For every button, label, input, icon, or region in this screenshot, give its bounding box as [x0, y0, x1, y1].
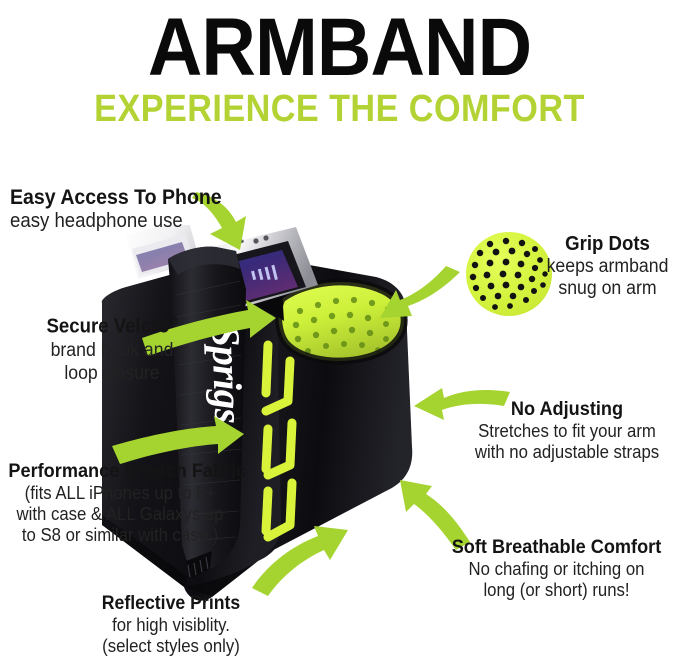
infographic-canvas: ARMBAND EXPERIENCE THE COMFORT: [0, 0, 679, 664]
callout-line: for high visiblity.: [79, 615, 263, 636]
callout-performance-stretch-fabric: Performance Stretch Fabric (fits ALL iPh…: [0, 460, 240, 546]
page-subtitle: EXPERIENCE THE COMFORT: [34, 88, 645, 130]
callout-soft-breathable-comfort-body: No chafing or itching on long (or short)…: [434, 559, 679, 601]
callout-line: long (or short) runs!: [443, 580, 671, 601]
callout-no-adjusting: No Adjusting Stretches to fit your arm w…: [455, 398, 679, 463]
title-block: ARMBAND EXPERIENCE THE COMFORT: [0, 4, 679, 130]
callout-line: No chafing or itching on: [443, 559, 671, 580]
callout-no-adjusting-body: Stretches to fit your arm with no adjust…: [455, 421, 679, 463]
callout-line: with no adjustable straps: [463, 442, 671, 463]
callout-reflective-prints-heading: Reflective Prints: [79, 592, 263, 615]
callout-line: Stretches to fit your arm: [463, 421, 671, 442]
callout-reflective-prints: Reflective Prints for high visiblity. (s…: [72, 592, 270, 657]
callout-secure-velcro-body: brand hook and loop closure: [6, 339, 218, 385]
callout-soft-breathable-comfort: Soft Breathable Comfort No chafing or it…: [434, 536, 679, 601]
callout-grip-dots-heading: Grip Dots: [545, 232, 671, 256]
product-photo: Sprigs: [60, 225, 480, 625]
callout-easy-access-body: easy headphone use: [10, 210, 270, 233]
callout-line: (fits ALL iPhones up to 8+: [8, 483, 231, 504]
callout-line: with case & ALL Galaxys up: [8, 504, 231, 525]
callout-line: loop closure: [13, 362, 210, 385]
callout-heading-text: Secure Velcro: [46, 316, 169, 338]
callout-performance-stretch-fabric-body: (fits ALL iPhones up to 8+ with case & A…: [0, 483, 240, 546]
callout-line: (select styles only): [79, 636, 263, 657]
callout-performance-stretch-fabric-heading: Performance Stretch Fabric: [8, 460, 231, 483]
callout-reflective-prints-body: for high visiblity. (select styles only): [72, 615, 270, 657]
registered-trademark-icon: ®: [170, 315, 178, 328]
callout-line: keeps armband: [545, 256, 671, 278]
callout-line: brand hook and: [13, 339, 210, 362]
callout-line: to S8 or similar with case.): [8, 525, 231, 546]
callout-easy-access: Easy Access To Phone easy headphone use: [10, 186, 270, 233]
callout-no-adjusting-heading: No Adjusting: [463, 398, 671, 421]
callout-secure-velcro-heading: Secure Velcro®: [13, 310, 210, 339]
callout-soft-breathable-comfort-heading: Soft Breathable Comfort: [443, 536, 671, 559]
page-title: ARMBAND: [27, 4, 652, 92]
callout-grip-dots: Grip Dots keeps armband snug on arm: [540, 232, 675, 300]
callout-line: snug on arm: [545, 278, 671, 300]
callout-secure-velcro: Secure Velcro® brand hook and loop closu…: [6, 310, 218, 385]
callout-grip-dots-body: keeps armband snug on arm: [540, 256, 675, 300]
callout-line: easy headphone use: [10, 210, 252, 233]
callout-easy-access-heading: Easy Access To Phone: [10, 186, 252, 210]
